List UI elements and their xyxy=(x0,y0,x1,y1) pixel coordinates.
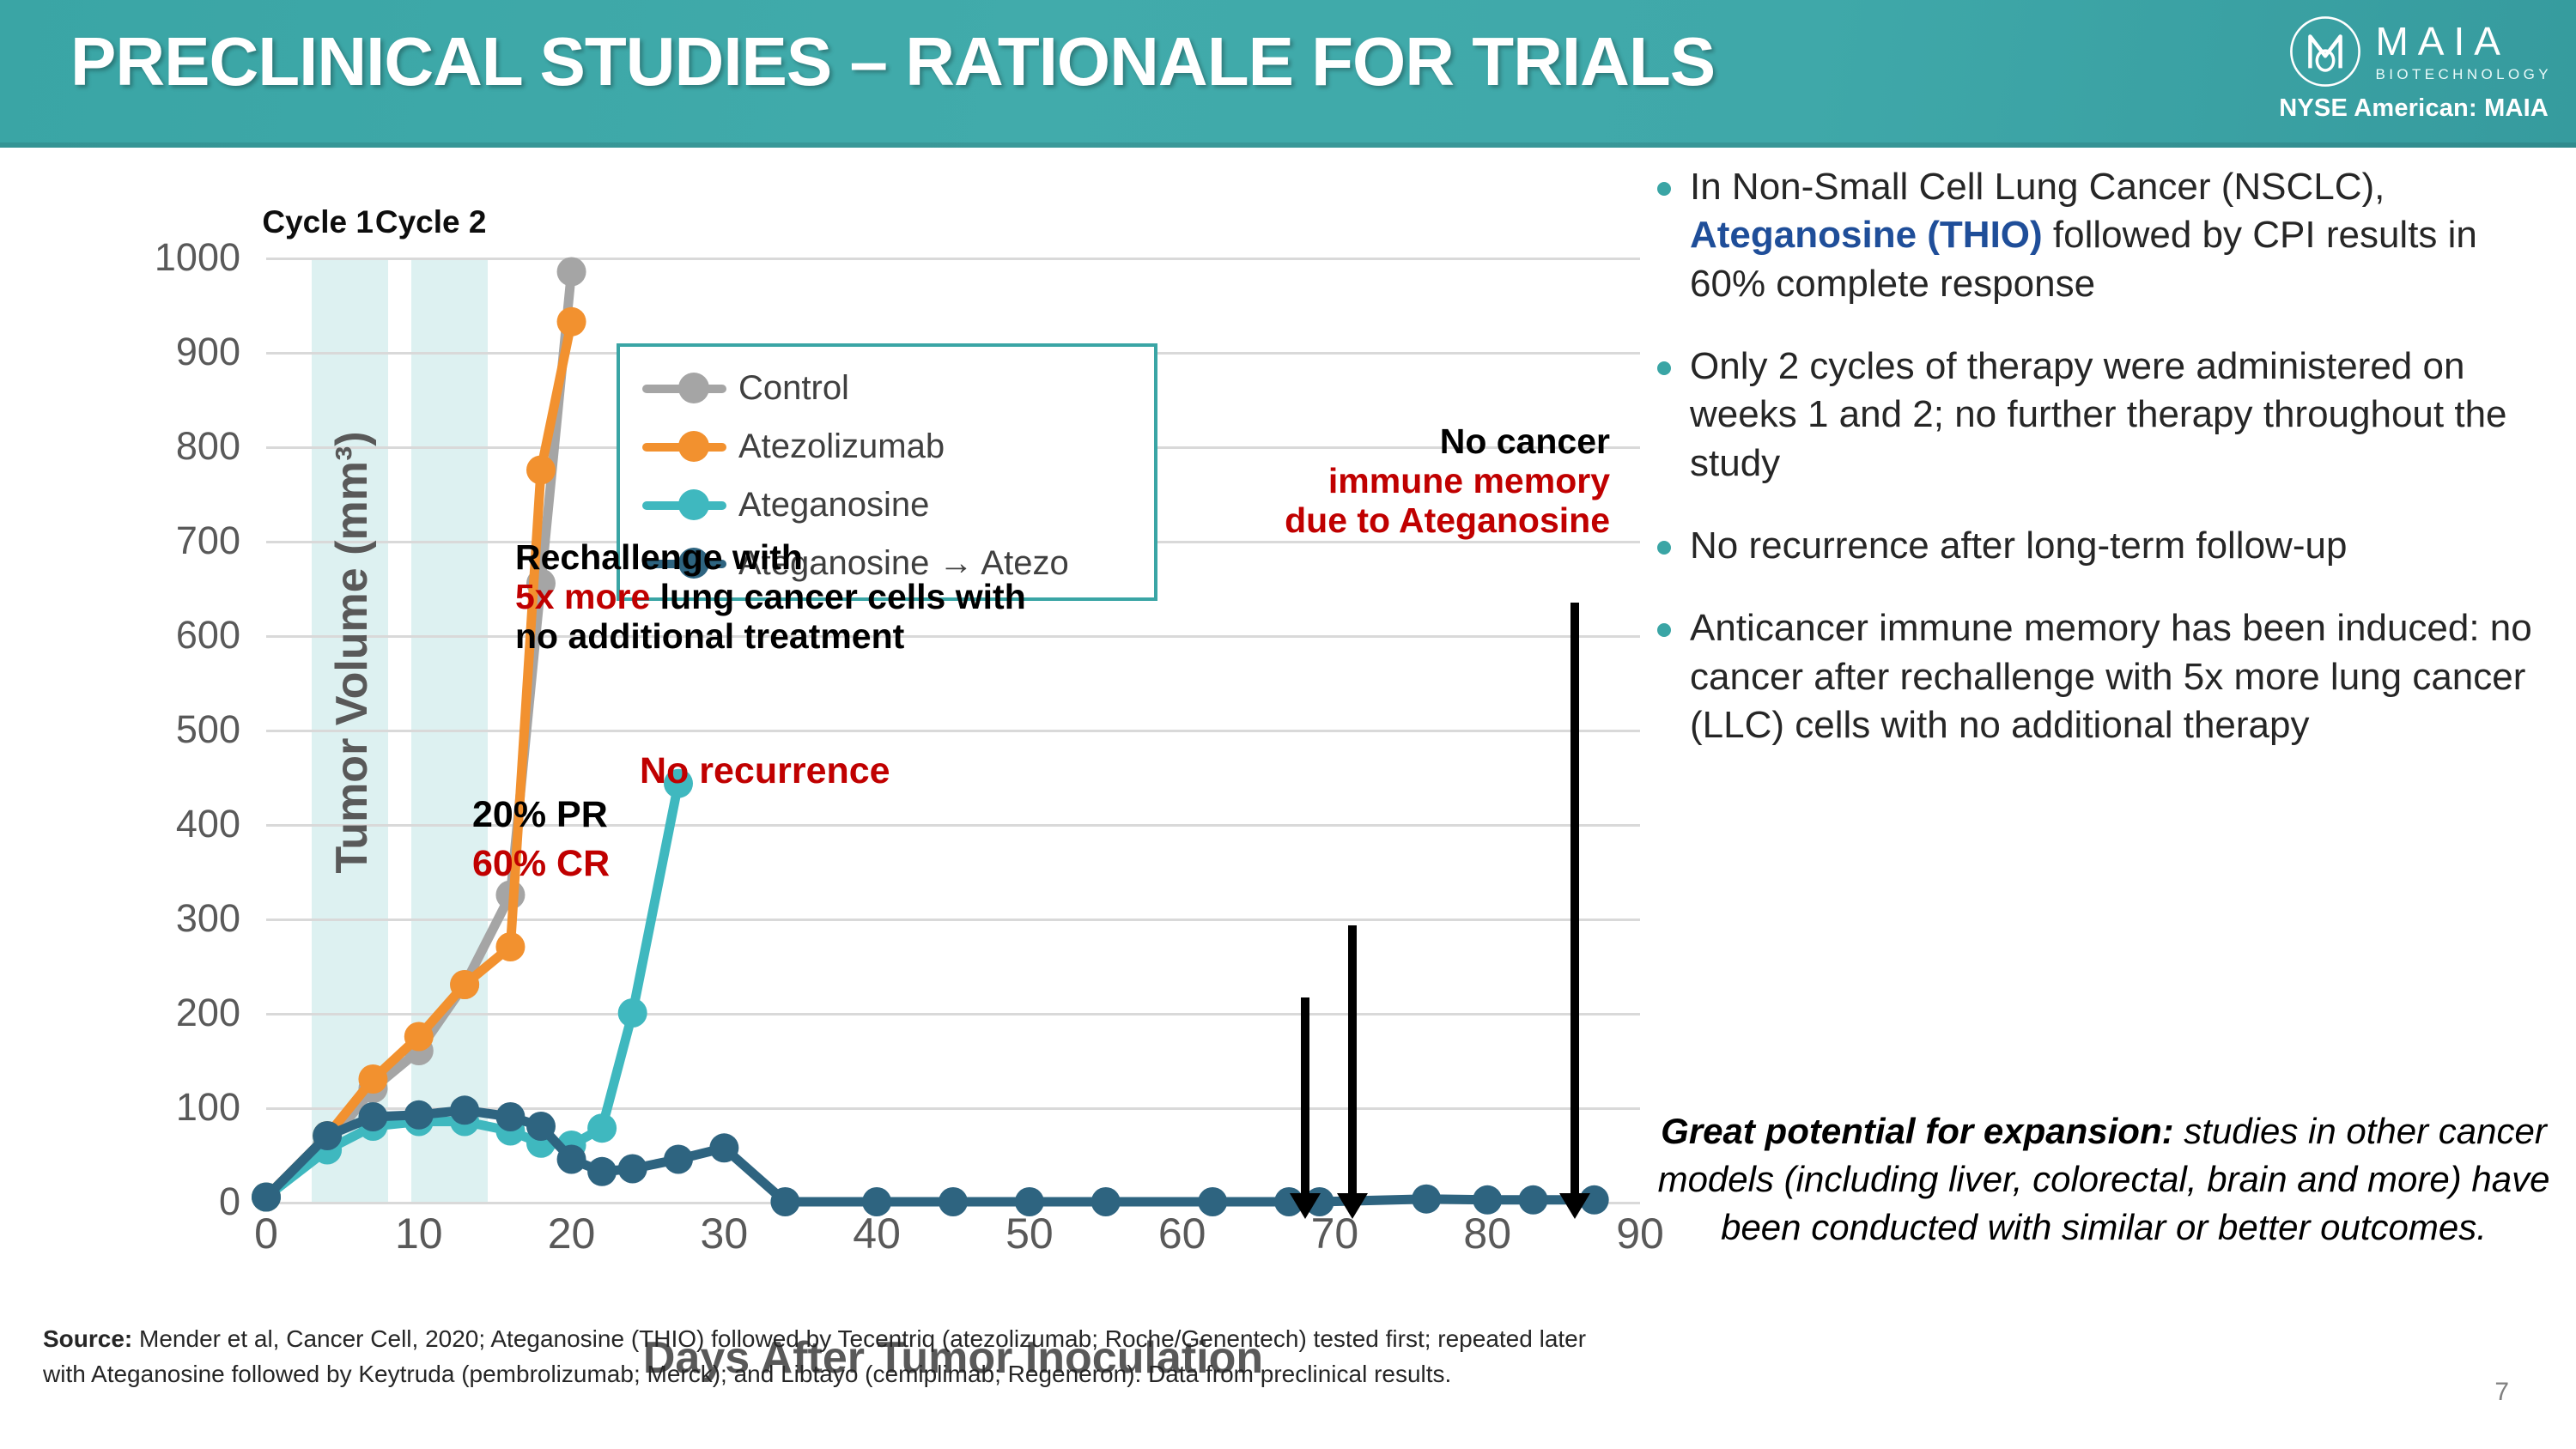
data-point xyxy=(1015,1187,1044,1216)
y-tick-label: 800 xyxy=(103,424,240,469)
cycle-1-label: Cycle 1 xyxy=(262,204,374,240)
key-point-3: No recurrence after long-term follow-up xyxy=(1657,522,2550,570)
data-point xyxy=(358,1064,387,1094)
data-point xyxy=(450,1095,479,1125)
data-point xyxy=(587,1113,617,1143)
data-point xyxy=(939,1187,968,1216)
x-tick-label: 60 xyxy=(1131,1209,1234,1258)
y-tick-label: 300 xyxy=(103,896,240,941)
data-point xyxy=(557,1145,586,1174)
legend-label: Ateganosine xyxy=(738,486,929,524)
annotation-complete-response: 60% CR xyxy=(472,843,610,884)
bullet-dot-icon xyxy=(1657,541,1671,555)
data-point xyxy=(252,1183,281,1212)
annotation-no-cancer: No cancerimmune memorydue to Ateganosine xyxy=(1285,422,1610,541)
y-tick-label: 600 xyxy=(103,613,240,658)
y-tick-label: 400 xyxy=(103,802,240,846)
data-point xyxy=(557,307,586,336)
page-title: PRECLINICAL STUDIES – RATIONALE FOR TRIA… xyxy=(70,22,1715,101)
key-point-text: Only 2 cycles of therapy were administer… xyxy=(1690,343,2550,488)
logo-subtitle: BIOTECHNOLOGY xyxy=(2375,67,2552,82)
y-tick-label: 100 xyxy=(103,1085,240,1130)
annotation-no-recurrence: No recurrence xyxy=(640,750,890,791)
data-point xyxy=(313,1121,342,1150)
bullet-dot-icon xyxy=(1657,182,1671,196)
chart-panel: 01002003004005006007008009001000 0102030… xyxy=(0,148,1631,1315)
y-tick-label: 200 xyxy=(103,991,240,1035)
x-tick-label: 20 xyxy=(520,1209,623,1258)
data-point xyxy=(495,932,525,961)
data-point xyxy=(1198,1187,1227,1216)
data-point xyxy=(450,970,479,999)
legend-marker-icon xyxy=(642,379,726,397)
key-point-4: Anticancer immune memory has been induce… xyxy=(1657,604,2550,749)
y-tick-label: 1000 xyxy=(103,235,240,280)
data-point xyxy=(404,1022,434,1052)
closing-lead: Great potential for expansion: xyxy=(1661,1111,2173,1151)
data-point xyxy=(664,1145,693,1174)
y-tick-label: 700 xyxy=(103,518,240,563)
data-point xyxy=(1412,1185,1441,1214)
x-tick-label: 0 xyxy=(215,1209,318,1258)
data-point xyxy=(557,258,586,287)
maia-logo-icon xyxy=(2287,14,2363,89)
source-text: Mender et al, Cancer Cell, 2020; Ategano… xyxy=(43,1325,1586,1387)
source-label: Source: xyxy=(43,1325,132,1352)
bullet-dot-icon xyxy=(1657,623,1671,637)
key-point-1: In Non-Small Cell Lung Cancer (NSCLC), A… xyxy=(1657,163,2550,308)
y-tick-label: 900 xyxy=(103,330,240,374)
data-point xyxy=(495,1102,525,1131)
data-point xyxy=(526,456,556,485)
annotation-rechallenge: Rechallenge with5x more lung cancer cell… xyxy=(515,538,1026,657)
closing-statement: Great potential for expansion: studies i… xyxy=(1657,1107,2550,1252)
y-tick-label: 500 xyxy=(103,707,240,752)
data-point xyxy=(770,1187,799,1216)
legend-marker-icon xyxy=(642,438,726,455)
key-points-list: In Non-Small Cell Lung Cancer (NSCLC), A… xyxy=(1657,163,2550,784)
data-point xyxy=(1519,1185,1548,1215)
logo-wordmark: MAIA xyxy=(2375,21,2509,61)
x-tick-label: 80 xyxy=(1436,1209,1539,1258)
legend-item-1[interactable]: Atezolizumab xyxy=(620,417,1154,476)
data-point xyxy=(358,1102,387,1131)
ticker-label: NYSE American: MAIA xyxy=(2243,94,2552,123)
data-point xyxy=(404,1100,434,1130)
annotation-partial-response: 20% PR xyxy=(472,794,608,835)
brand-logo-block: MAIA BIOTECHNOLOGY NYSE American: MAIA xyxy=(2243,10,2552,139)
source-footnote: Source: Mender et al, Cancer Cell, 2020;… xyxy=(43,1322,1631,1391)
annotation-arrow-left xyxy=(1301,997,1309,1197)
x-tick-label: 10 xyxy=(368,1209,471,1258)
annotation-arrow-right xyxy=(1571,603,1579,1197)
data-point xyxy=(618,1155,647,1184)
data-point xyxy=(862,1187,891,1216)
cycle-2-label: Cycle 2 xyxy=(375,204,487,240)
legend-marker-icon xyxy=(642,496,726,513)
data-point xyxy=(587,1157,617,1186)
legend-label: Atezolizumab xyxy=(738,427,945,466)
key-point-text: No recurrence after long-term follow-up xyxy=(1690,522,2347,570)
key-point-2: Only 2 cycles of therapy were administer… xyxy=(1657,343,2550,488)
bullet-dot-icon xyxy=(1657,361,1671,375)
legend-item-0[interactable]: Control xyxy=(620,359,1154,417)
page-number: 7 xyxy=(2494,1378,2509,1407)
key-point-text: Anticancer immune memory has been induce… xyxy=(1690,604,2550,749)
slide-header: PRECLINICAL STUDIES – RATIONALE FOR TRIA… xyxy=(0,0,2576,148)
x-tick-label: 30 xyxy=(672,1209,775,1258)
key-point-text: In Non-Small Cell Lung Cancer (NSCLC), A… xyxy=(1690,163,2550,308)
data-point xyxy=(618,998,647,1028)
annotation-arrow-mid xyxy=(1348,925,1357,1197)
data-point xyxy=(1091,1187,1121,1216)
legend-item-2[interactable]: Ateganosine xyxy=(620,476,1154,534)
series-line xyxy=(266,322,572,1197)
data-point xyxy=(526,1112,556,1141)
data-point xyxy=(1473,1185,1502,1215)
legend-label: Control xyxy=(738,369,849,408)
data-point xyxy=(709,1133,738,1162)
